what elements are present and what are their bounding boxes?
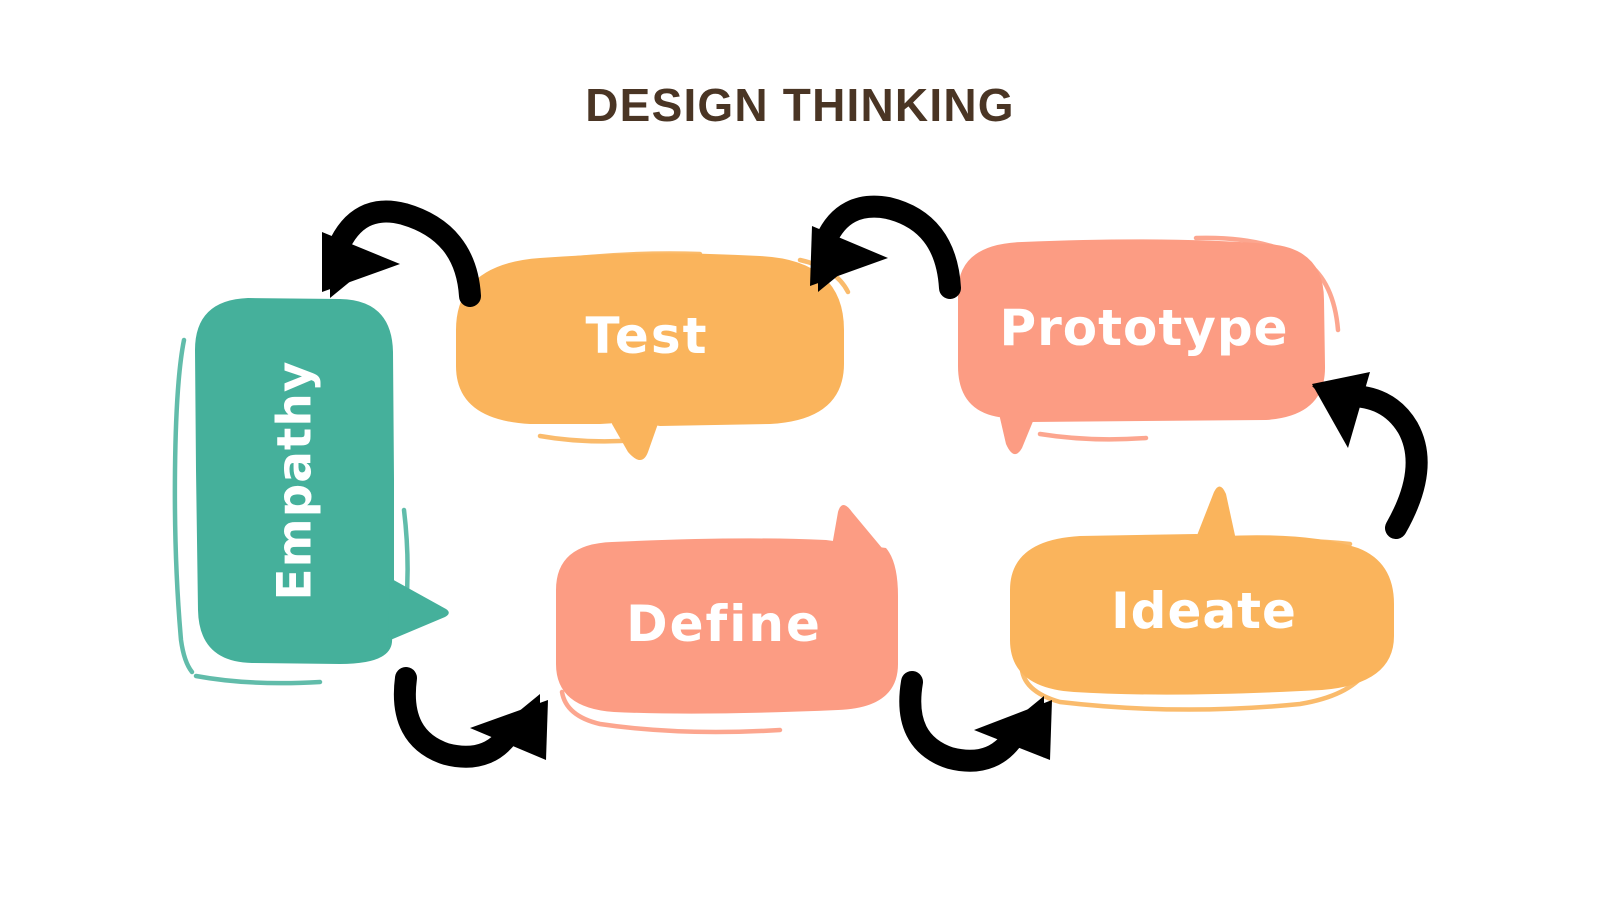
design-thinking-diagram: DESIGN THINKING [0,0,1600,900]
arrow-empathy-to-define-shaft [405,678,514,757]
node-define[interactable] [556,505,898,732]
diagram-canvas [0,0,1600,900]
empathy-sketch-outline-bottom [196,676,320,683]
node-empathy[interactable] [175,298,449,683]
node-ideate[interactable] [1010,486,1394,709]
ideate-bubble-body [1010,534,1394,695]
prototype-bubble-body [958,239,1325,422]
ideate-bubble-tail [1196,486,1236,540]
empathy-sketch-outline-left [175,340,192,672]
node-test[interactable] [456,253,848,460]
arrow-empathy-to-define [405,678,548,760]
define-bubble-body [556,538,898,713]
test-bubble-tail [612,416,660,460]
node-prototype[interactable] [958,238,1338,454]
arrow-test-to-empathy [322,212,470,298]
prototype-bubble-tail [1000,410,1036,454]
arrow-ideate-to-prototype [1312,372,1417,528]
test-bubble-body [456,253,844,426]
empathy-bubble-tail [388,578,449,641]
define-bubble-tail [832,505,882,548]
arrow-prototype-to-test [810,207,950,292]
arrow-define-to-ideate [910,682,1052,761]
prototype-sketch-outline-bottom [1040,434,1146,439]
